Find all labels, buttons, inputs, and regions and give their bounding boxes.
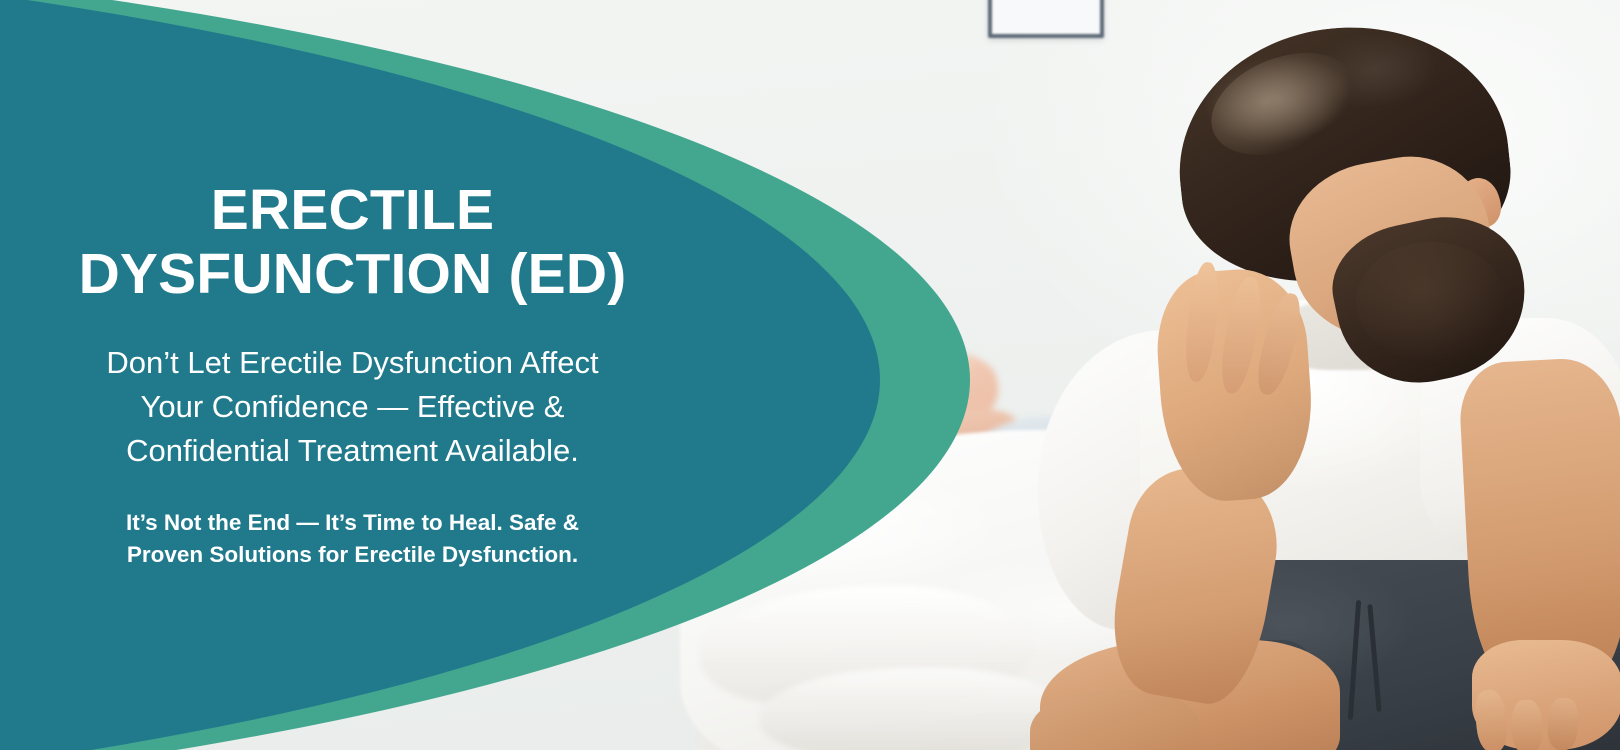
man-finger <box>1547 697 1580 750</box>
distressed-man <box>1020 0 1620 750</box>
banner-subheading: Don’t Let Erectile Dysfunction Affect Yo… <box>106 341 598 473</box>
man-finger <box>1511 699 1543 750</box>
banner-tagline: It’s Not the End — It’s Time to Heal. Sa… <box>126 507 579 572</box>
page-title: ERECTILE DYSFUNCTION (ED) <box>79 178 627 307</box>
ed-hero-banner: ERECTILE DYSFUNCTION (ED) Don’t Let Erec… <box>0 0 1620 750</box>
man-beard-shading <box>1356 242 1506 362</box>
banner-copy: ERECTILE DYSFUNCTION (ED) Don’t Let Erec… <box>0 0 705 750</box>
